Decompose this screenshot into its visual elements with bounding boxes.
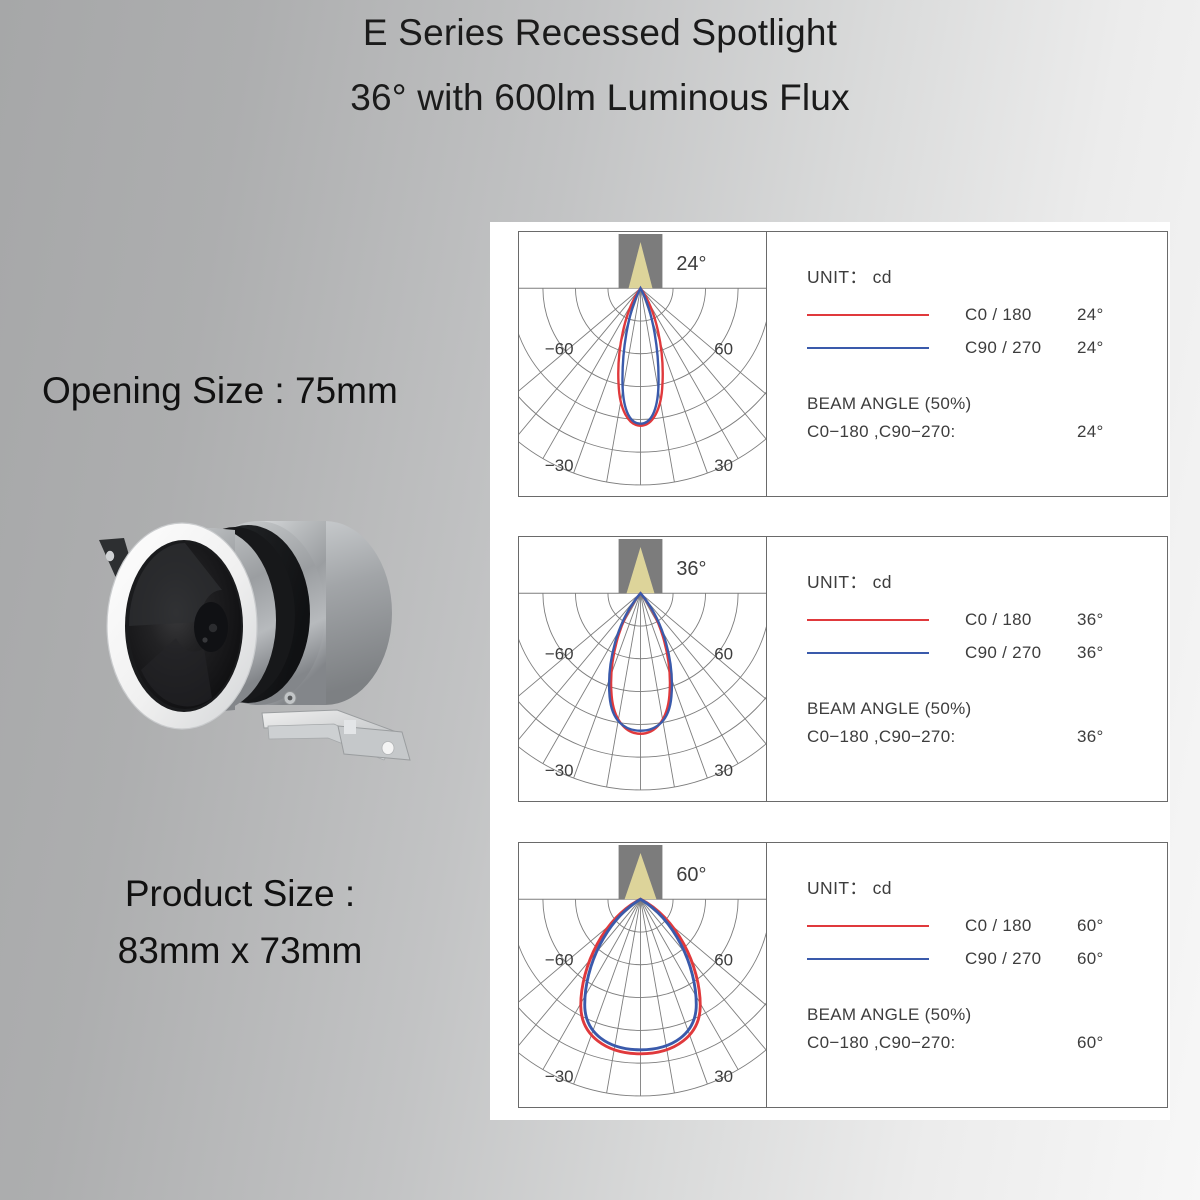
title-line-2: 36° with 600lm Luminous Flux [0, 79, 1200, 116]
beam-angle-title-24: BEAM ANGLE (50%) [807, 394, 1167, 414]
legend-row-c90-60: C90 / 270 60° [807, 942, 1167, 975]
legend-angle-c90-60: 60° [1077, 949, 1104, 969]
beam-angle-key-24: C0−180 ,C90−270: [807, 422, 1077, 442]
axis-label-left-inner-60: −30 [545, 1067, 574, 1086]
body-screw-head [288, 696, 293, 701]
panel-36-beam-badge: 36° [676, 558, 706, 580]
legend-label-c0-60: C0 / 180 [965, 916, 1077, 936]
legend-label-c90-36: C90 / 270 [965, 643, 1077, 663]
beam-angle-title-60: BEAM ANGLE (50%) [807, 1005, 1167, 1025]
opening-size-label: Opening Size : 75mm [42, 370, 398, 412]
axis-label-right-outer-60: 60 [714, 950, 733, 969]
panel-60-beam-badge: 60° [676, 864, 706, 886]
legend-swatch-c0-36 [807, 619, 929, 621]
legend-row-c90-36: C90 / 270 36° [807, 636, 1167, 669]
beam-angle-key-60: C0−180 ,C90−270: [807, 1033, 1077, 1053]
product-size-label: Product Size : [0, 865, 480, 922]
product-photo [72, 498, 444, 800]
unit-label-24: UNIT： cd [807, 264, 1167, 289]
unit-label-36: UNIT： cd [807, 569, 1167, 594]
axis-label-right-outer-36: 60 [714, 644, 733, 663]
legend-36: UNIT： cd C0 / 180 36° C90 / 270 36° BEAM… [767, 537, 1167, 801]
axis-label-left-outer-36: −60 [545, 644, 574, 663]
legend-angle-c90-36: 36° [1077, 643, 1104, 663]
axis-label-left-inner-36: −30 [545, 761, 574, 780]
polar-chart-60: 60° −60 60 −30 30 [519, 843, 767, 1107]
axis-label-right-inner-24: 30 [714, 456, 733, 475]
polar-chart-60-svg: 60° −60 60 −30 30 [519, 843, 766, 1107]
legend-24: UNIT： cd C0 / 180 24° C90 / 270 24° BEAM… [767, 232, 1167, 496]
legend-row-c0-24: C0 / 180 24° [807, 298, 1167, 331]
reflector-cone [129, 543, 241, 709]
panel-24-beam-badge: 24° [676, 253, 706, 275]
legend-label-c0-24: C0 / 180 [965, 305, 1077, 325]
legend-row-c0-36: C0 / 180 36° [807, 603, 1167, 636]
legend-swatch-c0-60 [807, 925, 929, 927]
beam-angle-block-24: BEAM ANGLE (50%) C0−180 ,C90−270: 24° [807, 394, 1167, 442]
axis-label-left-outer-60: −60 [545, 950, 574, 969]
legend-angle-c0-24: 24° [1077, 305, 1104, 325]
polar-chart-36-svg: 36° −60 60 −30 30 [519, 537, 766, 801]
polar-chart-36: 36° −60 60 −30 30 [519, 537, 767, 801]
photometric-panel-24: 24° [518, 231, 1168, 497]
axis-label-right-inner-36: 30 [714, 761, 733, 780]
product-size-block: Product Size : 83mm x 73mm [0, 865, 480, 980]
photometric-diagram-container: 24° [490, 222, 1170, 1120]
axis-label-left-outer-24: −60 [545, 339, 574, 358]
axis-label-left-inner-24: −30 [545, 456, 574, 475]
beam-angle-value-36: 36° [1077, 727, 1104, 747]
legend-swatch-c90-60 [807, 958, 929, 960]
legend-60: UNIT： cd C0 / 180 60° C90 / 270 60° BEAM… [767, 843, 1167, 1107]
legend-angle-c90-24: 24° [1077, 338, 1104, 358]
axis-label-right-inner-60: 30 [714, 1067, 733, 1086]
title-line-1: E Series Recessed Spotlight [0, 14, 1200, 51]
legend-label-c0-36: C0 / 180 [965, 610, 1077, 630]
legend-row-c0-60: C0 / 180 60° [807, 909, 1167, 942]
beam-angle-row-60: C0−180 ,C90−270: 60° [807, 1033, 1167, 1053]
page-title: E Series Recessed Spotlight 36° with 600… [0, 14, 1200, 116]
legend-angle-c0-60: 60° [1077, 916, 1104, 936]
mounting-bracket-lower [262, 710, 410, 760]
beam-angle-value-60: 60° [1077, 1033, 1104, 1053]
beam-angle-row-24: C0−180 ,C90−270: 24° [807, 422, 1167, 442]
polar-chart-24-svg: 24° [519, 232, 766, 496]
legend-swatch-c0-24 [807, 314, 929, 316]
legend-label-c90-24: C90 / 270 [965, 338, 1077, 358]
beam-angle-row-36: C0−180 ,C90−270: 36° [807, 727, 1167, 747]
photometric-panel-36: 36° −60 60 −30 30 [518, 536, 1168, 802]
beam-angle-block-60: BEAM ANGLE (50%) C0−180 ,C90−270: 60° [807, 1005, 1167, 1053]
legend-angle-c0-36: 36° [1077, 610, 1104, 630]
beam-angle-value-24: 24° [1077, 422, 1104, 442]
axis-label-right-outer-24: 60 [714, 339, 733, 358]
legend-swatch-c90-36 [807, 652, 929, 654]
unit-label-60: UNIT： cd [807, 875, 1167, 900]
legend-label-c90-60: C90 / 270 [965, 949, 1077, 969]
polar-chart-24: 24° [519, 232, 767, 496]
photometric-panel-60: 60° −60 60 −30 30 [518, 842, 1168, 1108]
legend-swatch-c90-24 [807, 347, 929, 349]
product-size-value: 83mm x 73mm [0, 922, 480, 979]
beam-angle-title-36: BEAM ANGLE (50%) [807, 699, 1167, 719]
beam-angle-block-36: BEAM ANGLE (50%) C0−180 ,C90−270: 36° [807, 699, 1167, 747]
spotlight-render-svg [72, 498, 444, 800]
beam-angle-key-36: C0−180 ,C90−270: [807, 727, 1077, 747]
legend-row-c90-24: C90 / 270 24° [807, 331, 1167, 364]
